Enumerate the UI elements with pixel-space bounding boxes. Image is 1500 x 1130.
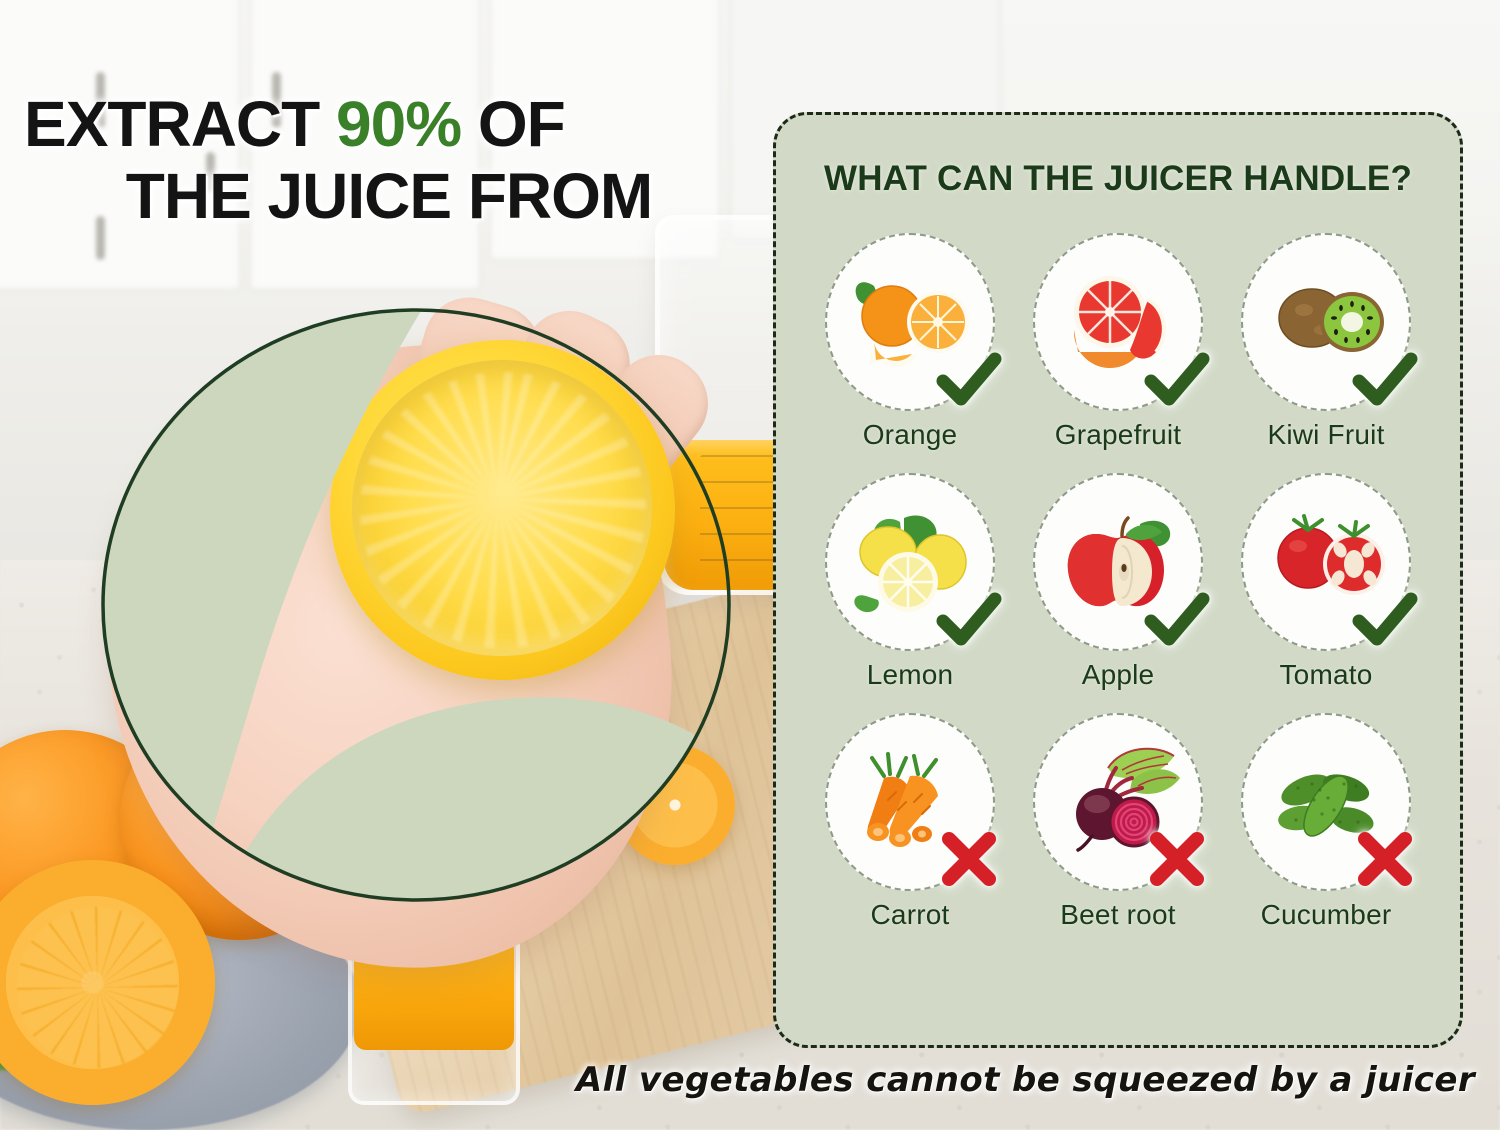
headline-line-1: EXTRACT 90% OF: [24, 92, 754, 158]
orange-segments: [10, 900, 185, 1075]
page-headline: EXTRACT 90% OF THE JUICE FROM: [24, 92, 754, 230]
cross-icon: [1349, 823, 1421, 895]
fruit-label: Grapefruit: [1055, 419, 1182, 451]
fruit-bubble: [1033, 713, 1203, 891]
fruit-label: Cucumber: [1261, 899, 1392, 931]
fruit-bubble: [825, 713, 995, 891]
grid-item-carrot[interactable]: Carrot: [806, 713, 1014, 931]
fruit-label: Beet root: [1060, 899, 1175, 931]
fruit-label: Lemon: [867, 659, 954, 691]
fruit-label: Apple: [1082, 659, 1155, 691]
headline-percentage: 90%: [336, 88, 461, 160]
grid-item-tomato[interactable]: Tomato: [1222, 473, 1430, 691]
grid-item-grapefruit[interactable]: Grapefruit: [1014, 233, 1222, 451]
check-icon: [1349, 583, 1421, 655]
fruit-bubble: [825, 473, 995, 651]
headline-extract-text: EXTRACT: [24, 88, 336, 160]
grid-item-apple[interactable]: Apple: [1014, 473, 1222, 691]
check-icon: [1141, 343, 1213, 415]
grid-item-kiwi-fruit[interactable]: Kiwi Fruit: [1222, 233, 1430, 451]
fruit-label: Tomato: [1279, 659, 1372, 691]
fruit-bubble: [825, 233, 995, 411]
fruit-bubble: [1033, 233, 1203, 411]
fruit-bubble: [1241, 473, 1411, 651]
fruit-bubble: [1241, 713, 1411, 891]
fruit-bubble: [1033, 473, 1203, 651]
headline-line-2: THE JUICE FROM: [24, 164, 754, 230]
footer-caption: All vegetables cannot be squeezed by a j…: [0, 1060, 1475, 1100]
check-icon: [1141, 583, 1213, 655]
cross-icon: [1141, 823, 1213, 895]
check-icon: [933, 343, 1005, 415]
fruit-label: Orange: [863, 419, 958, 451]
callout-circle: [100, 306, 732, 904]
cross-icon: [933, 823, 1005, 895]
grid-item-beet-root[interactable]: Beet root: [1014, 713, 1222, 931]
headline-of-text: OF: [461, 88, 565, 160]
grid-item-orange[interactable]: Orange: [806, 233, 1014, 451]
fruit-grid: Orange: [806, 233, 1430, 931]
fruit-label: Carrot: [871, 899, 950, 931]
check-icon: [1349, 343, 1421, 415]
grid-item-lemon[interactable]: Lemon: [806, 473, 1014, 691]
check-icon: [933, 583, 1005, 655]
fruit-label: Kiwi Fruit: [1267, 419, 1384, 451]
grid-item-cucumber[interactable]: Cucumber: [1222, 713, 1430, 931]
fruit-bubble: [1241, 233, 1411, 411]
panel-title: WHAT CAN THE JUICER HANDLE?: [776, 159, 1460, 199]
juicer-compatibility-panel: WHAT CAN THE JUICER HANDLE?: [773, 112, 1463, 1048]
